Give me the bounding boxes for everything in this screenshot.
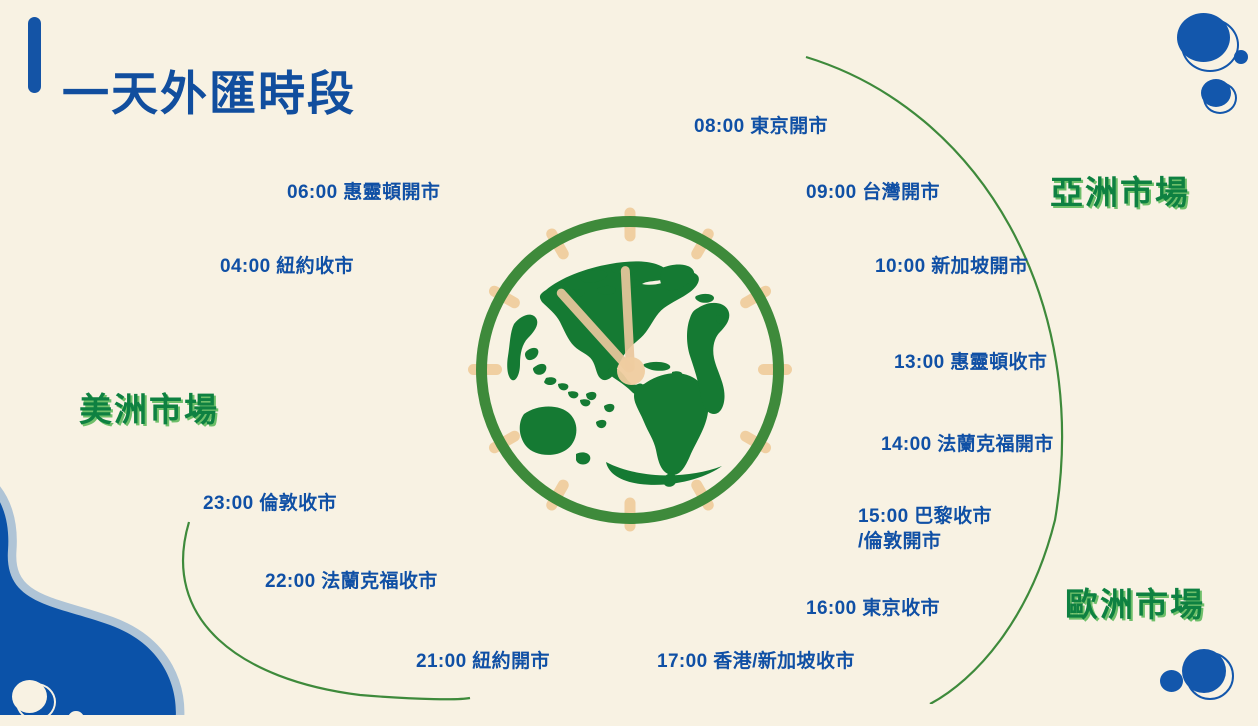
session-label-newyork-close: 04:00 紐約收市 [220, 255, 354, 280]
decorative-circle-top-right-large [1177, 13, 1230, 62]
blob-hole-large [12, 680, 47, 713]
decorative-blob-bottom-left [0, 455, 220, 715]
decorative-circle-top-right-medium [1201, 79, 1231, 107]
blob-hole-small [68, 711, 84, 726]
session-label-frankfurt-close: 22:00 法蘭克福收市 [265, 570, 438, 595]
session-label-paris-close-london-open: 15:00 巴黎收市 /倫敦開市 [858, 505, 992, 554]
blob-svg [0, 455, 220, 715]
clock-center-hub [617, 357, 645, 385]
infographic-canvas: 一天外匯時段 [0, 0, 1258, 704]
region-label-europe: 歐洲市場 [1065, 578, 1205, 626]
decorative-circle-bottom-right-small [1160, 670, 1183, 692]
decorative-circle-bottom-right-large [1182, 649, 1226, 693]
session-label-tokyo-open: 08:00 東京開市 [694, 115, 828, 140]
session-label-wellington-open: 06:00 惠靈頓開市 [287, 181, 440, 206]
session-label-taiwan-open: 09:00 台灣開市 [806, 181, 940, 206]
region-label-americas: 美洲市場 [79, 383, 219, 431]
decorative-circle-top-right-small [1234, 50, 1248, 64]
title-accent-bar [28, 17, 41, 93]
world-clock-graphic [400, 140, 860, 600]
session-label-hk-singapore-close: 17:00 香港/新加坡收市 [657, 650, 855, 675]
session-label-tokyo-close: 16:00 東京收市 [806, 597, 940, 622]
region-label-asia: 亞洲市場 [1050, 166, 1190, 214]
session-label-frankfurt-open: 14:00 法蘭克福開市 [881, 433, 1054, 458]
session-label-newyork-open: 21:00 紐約開市 [416, 650, 550, 675]
session-label-london-close: 23:00 倫敦收市 [203, 492, 337, 517]
page-title: 一天外匯時段 [62, 55, 356, 124]
session-label-wellington-close: 13:00 惠靈頓收市 [894, 351, 1047, 376]
session-label-singapore-open: 10:00 新加坡開市 [875, 255, 1028, 280]
